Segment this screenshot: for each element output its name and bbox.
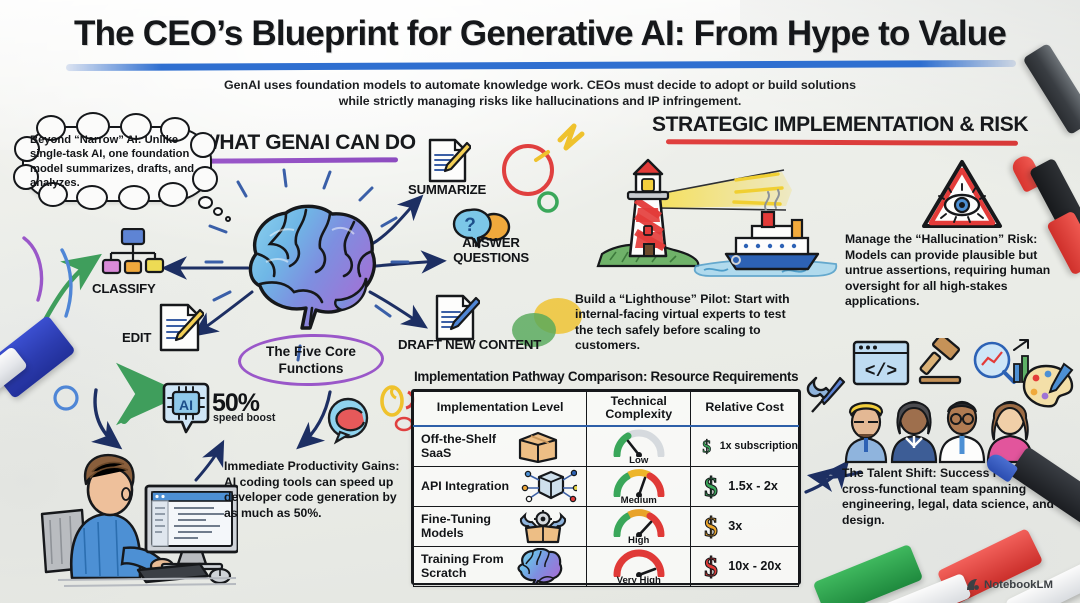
productivity-stat-label: speed boost [213,412,275,424]
gauge-icon [611,507,667,537]
svg-text:AI: AI [179,397,193,413]
thought-dot-small [225,216,231,222]
cell-relative-cost: 3x [728,519,742,533]
ai-chip-icon: AI [162,382,210,436]
cell-implementation-level: Training From Scratch [421,552,513,580]
cell-implementation-level: Off-the-Shelf SaaS [421,432,513,460]
svg-text:$: $ [704,552,718,581]
gauge-icon [611,467,667,497]
table-title: Implementation Pathway Comparison: Resou… [414,369,798,384]
api-cube-network-icon [517,468,577,504]
cell-implementation-level: API Integration [421,479,513,493]
svg-text:?: ? [341,406,354,431]
cell-relative-cost: 10x - 20x [728,559,781,573]
cell-relative-cost: 1.5x - 2x [728,479,778,493]
column-header-technical-complexity: Technical Complexity [587,392,691,426]
title-underline [66,60,1016,71]
column-header-relative-cost: Relative Cost [691,392,799,426]
page-subtitle: GenAI uses foundation models to automate… [210,77,870,109]
hierarchy-icon [100,228,166,276]
cell-relative-cost: 1x subscription [720,440,798,452]
table-row: Training From Scratch [414,546,799,586]
svg-text:$: $ [704,472,718,501]
document-pencil-icon [156,302,204,354]
table-row: Off-the-Shelf SaaS [414,426,799,467]
productivity-caption: Immediate Productivity Gains: AI coding … [224,459,404,521]
function-label-classify: CLASSIFY [92,281,156,296]
thought-dot-large [198,196,213,209]
table-row: Fine-Tuning Models [414,506,799,546]
document-pencil-icon [425,138,471,184]
thought-bubble-text: Beyond “Narrow” AI: Unlike single-task A… [30,133,206,191]
hallucination-caption: Manage the “Hallucination” Risk: Models … [845,232,1071,310]
dollar-sign-icon: $ [699,551,723,581]
function-label-draft-new-content: DRAFT NEW CONTENT [398,337,541,352]
diverse-team-icon [840,382,1040,464]
page-title: The CEO’s Blueprint for Generative AI: F… [0,14,1080,54]
dollar-sign-icon: $ [699,431,715,461]
function-label-summarize: SUMMARIZE [408,182,486,197]
grey-marker-prop [1022,43,1080,135]
left-heading-underline [202,157,398,163]
cell-complexity-label: High [628,535,649,546]
right-heading-underline [666,139,1018,145]
cell-complexity-label: Low [629,455,648,466]
cell-complexity-label: Medium [621,495,657,506]
dollar-sign-icon: $ [699,511,723,541]
notebooklm-watermark: NotebookLM [966,578,1053,591]
developer-at-computer-icon [28,428,238,588]
brain-icon [236,196,388,344]
function-label-answer-questions: ANSWER QUESTIONS [448,235,534,265]
five-core-functions-label: The Five Core Functions [244,343,378,377]
document-pen-icon [432,294,480,342]
cell-complexity-label: Very High [617,575,661,586]
svg-text:</>: </> [865,362,897,382]
thought-dot-medium [213,207,223,216]
watermark-label: NotebookLM [984,579,1053,591]
gauge-icon [611,547,667,577]
svg-text:$: $ [704,512,718,541]
section-heading-strategic-implementation: STRATEGIC IMPLEMENTATION & RISK [652,113,1028,137]
dollar-sign-icon: $ [699,471,723,501]
cell-implementation-level: Fine-Tuning Models [421,512,513,540]
gear-wrench-box-icon [517,508,569,544]
column-header-implementation-level: Implementation Level [414,392,587,426]
cardboard-box-icon [517,429,559,463]
svg-text:?: ? [464,215,476,236]
code-window-icon: </> [852,340,910,386]
svg-text:$: $ [703,436,712,456]
brain-icon [517,548,563,584]
infographic-canvas: The CEO’s Blueprint for Generative AI: F… [0,0,1080,603]
lighthouse-ship-icon [586,150,854,290]
section-heading-what-genai-can-do: WHAT GENAI CAN DO [200,131,416,155]
table-header-row: Implementation Level Technical Complexit… [414,392,799,426]
gauge-icon [611,427,667,457]
table-row: API Integration [414,466,799,506]
thought-bubble: Beyond “Narrow” AI: Unlike single-task A… [22,126,212,202]
lighthouse-caption: Build a “Lighthouse” Pilot: Start with i… [575,292,793,354]
warning-eye-triangle-icon [920,158,1004,230]
notebooklm-logo-icon [966,578,980,591]
function-label-edit: EDIT [122,330,151,345]
gavel-icon [916,338,964,386]
implementation-pathway-table: Implementation Level Technical Complexit… [411,389,801,585]
